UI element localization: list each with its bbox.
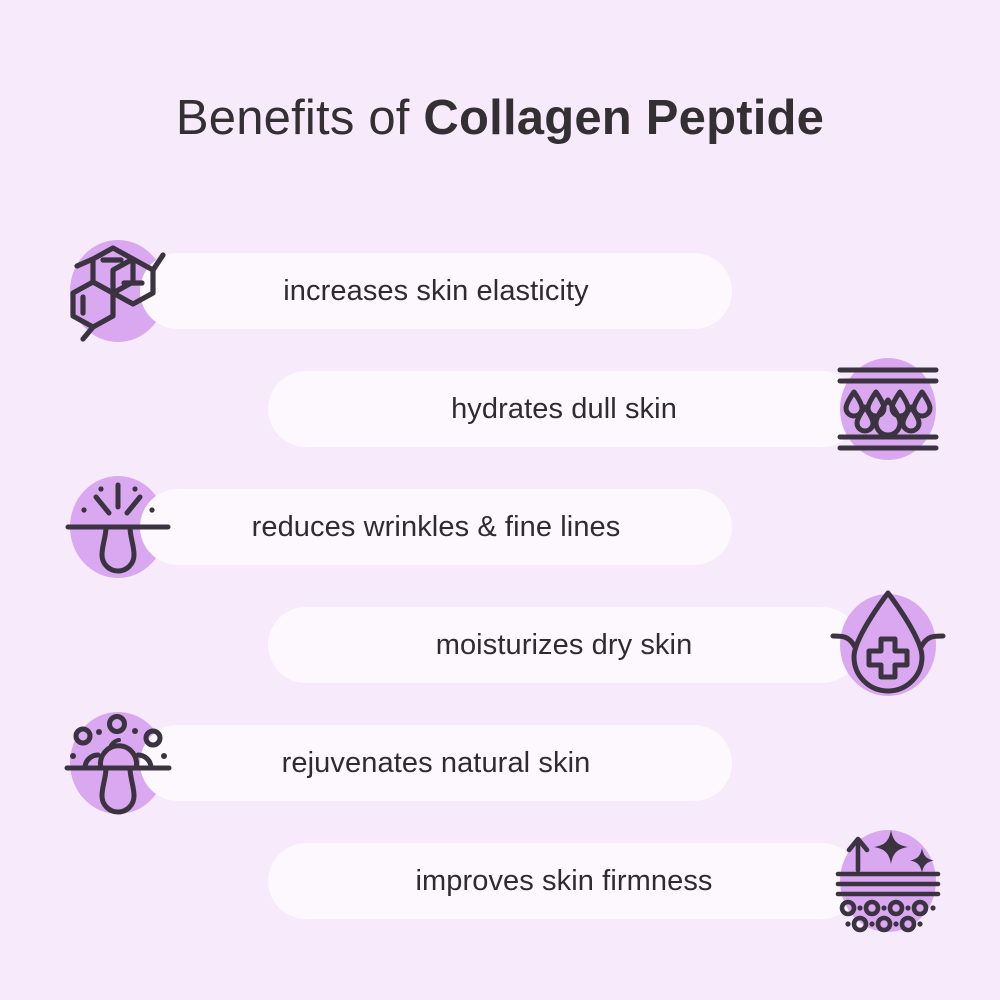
- infographic-poster: Benefits of Collagen Peptide: [0, 0, 1000, 1000]
- benefit-row: rejuvenates natural skin: [0, 704, 1000, 822]
- benefit-row: moisturizes dry skin: [0, 586, 1000, 704]
- page-title: Benefits of Collagen Peptide: [0, 88, 1000, 148]
- benefit-pill[interactable]: moisturizes dry skin: [268, 607, 860, 683]
- benefit-pill[interactable]: hydrates dull skin: [268, 371, 860, 447]
- title-bold-text: Collagen Peptide: [423, 91, 824, 145]
- droplet-plus-icon: [839, 586, 937, 704]
- benefit-row: increases skin elasticity: [0, 232, 1000, 350]
- benefit-row: improves skin firmness: [0, 822, 1000, 940]
- skin-pore-burst-icon: [69, 468, 167, 586]
- benefit-label: hydrates dull skin: [451, 393, 677, 426]
- benefit-pill[interactable]: improves skin firmness: [268, 843, 860, 919]
- skin-layers-sparkle-icon: [839, 822, 937, 940]
- benefit-row: hydrates dull skin: [0, 350, 1000, 468]
- benefit-label: moisturizes dry skin: [436, 629, 693, 662]
- benefit-pill[interactable]: increases skin elasticity: [140, 253, 732, 329]
- benefit-label: improves skin firmness: [415, 865, 712, 898]
- benefits-list: increases skin elasticity hydrates dull …: [0, 232, 1000, 940]
- benefit-pill[interactable]: reduces wrinkles & fine lines: [140, 489, 732, 565]
- water-droplets-icon: [839, 350, 937, 468]
- benefit-label: reduces wrinkles & fine lines: [252, 511, 621, 544]
- benefit-label: increases skin elasticity: [283, 275, 589, 308]
- pore-bubbles-icon: [69, 704, 167, 822]
- molecule-icon: [69, 232, 167, 350]
- title-light-text: Benefits of: [176, 91, 424, 145]
- benefit-label: rejuvenates natural skin: [282, 747, 591, 780]
- benefit-pill[interactable]: rejuvenates natural skin: [140, 725, 732, 801]
- benefit-row: reduces wrinkles & fine lines: [0, 468, 1000, 586]
